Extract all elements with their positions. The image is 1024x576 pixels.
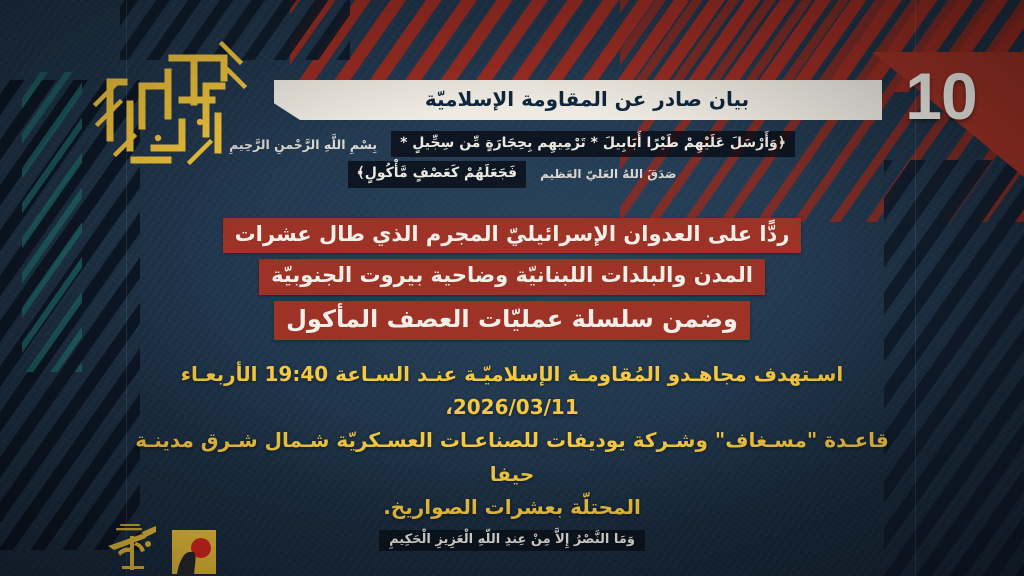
header-ribbon: بيان صادر عن المقاومة الإسلاميّة (274, 80, 882, 120)
al-manar-black-mark (177, 552, 197, 574)
statement-body: اسـتهدف مجاهـدو المُقاومـة الإسلاميّـة ع… (112, 358, 912, 524)
body-line-2: قاعـدة "مسـغاف" وشـركة يوديفات للصناعـات… (112, 424, 912, 490)
quran-opening-block: بِسْمِ اللَّهِ الرَّحْمنِ الرَّحِيمِ ﴿وَ… (120, 131, 904, 192)
al-manar-logo-icon (172, 530, 216, 574)
hezbollah-emblem-icon (104, 522, 162, 574)
quran-verse-line-1: ﴿وَأَرْسَلَ عَلَيْهِمْ طَيْرًا أَبَابِيل… (391, 131, 795, 157)
headline-band-3: وضمن سلسلة عمليّات العصف المأكول (274, 301, 750, 340)
quran-line-2: فَجَعَلَهُمْ كَعَصْفٍ مَّأْكُولٍ﴾ صَدَقَ… (120, 161, 904, 187)
headline-bands: ردًّا على العدوان الإسرائيليّ المجرم الذ… (120, 218, 904, 340)
closing-verse-text: وَمَا النَّصْرُ إِلاَّ مِنْ عِندِ اللّهِ… (379, 530, 645, 551)
body-line-3: المحتلّة بعشرات الصواريخ. (112, 491, 912, 524)
statement-poster: 10 بيان صادر عن المقاومة الإسلاميّة بِسْ… (0, 0, 1024, 576)
headline-band-1: ردًّا على العدوان الإسرائيليّ المجرم الذ… (223, 218, 802, 253)
diagonal-stripes-top-red (290, 0, 1024, 92)
badge-number: 10 (872, 58, 1010, 134)
quran-attestation: صَدَقَ اللهُ العَليّ العَظيم (540, 167, 676, 181)
basmala-text: بِسْمِ اللَّهِ الرَّحْمنِ الرَّحِيمِ (229, 137, 377, 152)
quran-line-1: بِسْمِ اللَّهِ الرَّحْمنِ الرَّحِيمِ ﴿وَ… (120, 131, 904, 157)
body-line-1: اسـتهدف مجاهـدو المُقاومـة الإسلاميّـة ع… (112, 358, 912, 424)
page-title: بيان صادر عن المقاومة الإسلاميّة (407, 87, 749, 114)
footer-logos (104, 522, 216, 574)
headline-band-2: المدن والبلدات اللبنانيّة وضاحية بيروت ا… (259, 259, 765, 294)
right-edge-rule (915, 0, 916, 576)
quran-verse-line-2: فَجَعَلَهُمْ كَعَصْفٍ مَّأْكُولٍ﴾ (348, 161, 527, 187)
